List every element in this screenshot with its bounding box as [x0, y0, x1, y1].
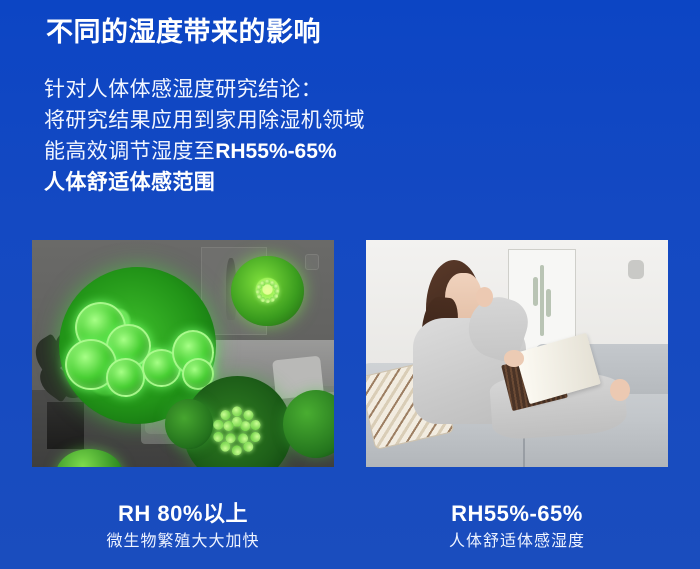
woman-reading [408, 260, 625, 464]
photo-high-humidity [32, 240, 334, 467]
wall-knob-icon [628, 260, 644, 279]
humidity-infographic-poster: 不同的湿度带来的影响 针对人体体感湿度研究结论： 将研究结果应用到家用除湿机领域… [0, 0, 700, 569]
page-title: 不同的湿度带来的影响 [46, 17, 321, 48]
microbe-sphere-edge-left [165, 399, 213, 449]
caption-title: RH55%-65% [366, 500, 668, 527]
wall-knob-icon [305, 254, 319, 270]
intro-paragraph: 针对人体体感湿度研究结论： 将研究结果应用到家用除湿机领域 能高效调节湿度至RH… [44, 74, 494, 198]
virus-spikes [231, 256, 303, 326]
intro-line-1: 针对人体体感湿度研究结论： [44, 74, 494, 105]
photo-comfort-humidity [366, 240, 668, 467]
caption-title: RH 80%以上 [32, 500, 334, 527]
intro-line-3: 能高效调节湿度至RH55%-65% [44, 136, 494, 167]
microbe-sphere-upper-right [231, 256, 303, 326]
plant-pot [47, 402, 84, 449]
caption-high-humidity: RH 80%以上 微生物繁殖大大加快 [32, 500, 334, 554]
humidity-range-highlight: RH55%-65% [215, 140, 336, 163]
intro-line-4: 人体舒适体感范围 [44, 167, 494, 198]
intro-line-3-prefix: 能高效调节湿度至 [44, 140, 215, 163]
bright-living-room-scene [366, 240, 668, 467]
caption-subtitle: 微生物繁殖大大加快 [32, 530, 334, 554]
dim-living-room-scene [32, 240, 334, 467]
microbe-blob [106, 358, 145, 396]
caption-subtitle: 人体舒适体感湿度 [366, 530, 668, 554]
intro-line-2: 将研究结果应用到家用除湿机领域 [44, 105, 494, 136]
caption-comfort-humidity: RH55%-65% 人体舒适体感湿度 [366, 500, 668, 554]
hand-holding-book [504, 350, 524, 366]
